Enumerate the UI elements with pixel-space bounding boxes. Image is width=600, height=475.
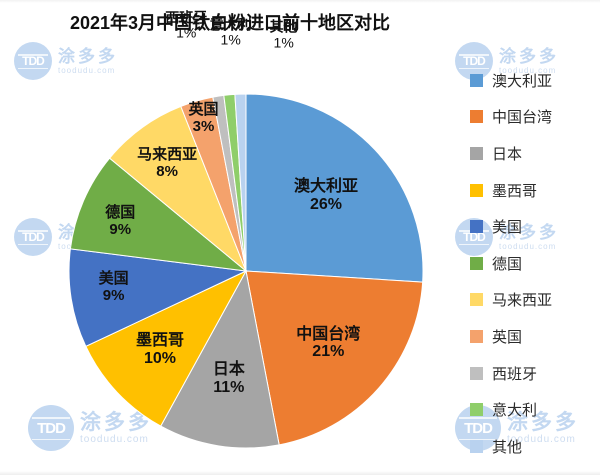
legend-swatch-icon (470, 440, 483, 453)
legend-item-label: 德国 (492, 253, 522, 274)
legend-item[interactable]: 其他 (470, 428, 600, 465)
legend-item-label: 墨西哥 (492, 180, 537, 201)
legend-swatch-icon (470, 220, 483, 233)
legend-item-label: 马来西亚 (492, 289, 552, 310)
legend-item[interactable]: 马来西亚 (470, 282, 600, 319)
legend-item-label: 英国 (492, 326, 522, 347)
legend-swatch-icon (470, 330, 483, 343)
legend-swatch-icon (470, 147, 483, 160)
pie-slice-group (69, 94, 423, 448)
legend-swatch-icon (470, 367, 483, 380)
pie-svg (0, 0, 460, 475)
legend-item[interactable]: 英国 (470, 318, 600, 355)
chart-page: TDD 涂多多 toodudu.com TDD 涂多多 toodudu.com … (0, 0, 600, 475)
legend-item-label: 美国 (492, 216, 522, 237)
legend-item[interactable]: 中国台湾 (470, 99, 600, 136)
legend-item[interactable]: 澳大利亚 (470, 62, 600, 99)
legend-swatch-icon (470, 74, 483, 87)
legend-item-label: 日本 (492, 143, 522, 164)
pie-slice[interactable] (246, 94, 423, 282)
legend-item-label: 意大利 (492, 399, 537, 420)
legend-swatch-icon (470, 403, 483, 416)
legend-item[interactable]: 西班牙 (470, 355, 600, 392)
legend-item[interactable]: 美国 (470, 208, 600, 245)
legend-item[interactable]: 意大利 (470, 391, 600, 428)
legend-item-label: 西班牙 (492, 363, 537, 384)
legend-item-label: 其他 (492, 436, 522, 457)
legend-item[interactable]: 德国 (470, 245, 600, 282)
legend-item-label: 中国台湾 (492, 106, 552, 127)
pie-chart: 澳大利亚26%中国台湾21%日本11%墨西哥10%美国9%德国9%马来西亚8%英… (0, 0, 460, 475)
legend-swatch-icon (470, 293, 483, 306)
legend-swatch-icon (470, 184, 483, 197)
legend-item-label: 澳大利亚 (492, 70, 552, 91)
legend-swatch-icon (470, 257, 483, 270)
legend: 澳大利亚中国台湾日本墨西哥美国德国马来西亚英国西班牙意大利其他 (470, 62, 600, 465)
legend-swatch-icon (470, 110, 483, 123)
legend-item[interactable]: 日本 (470, 135, 600, 172)
legend-item[interactable]: 墨西哥 (470, 172, 600, 209)
